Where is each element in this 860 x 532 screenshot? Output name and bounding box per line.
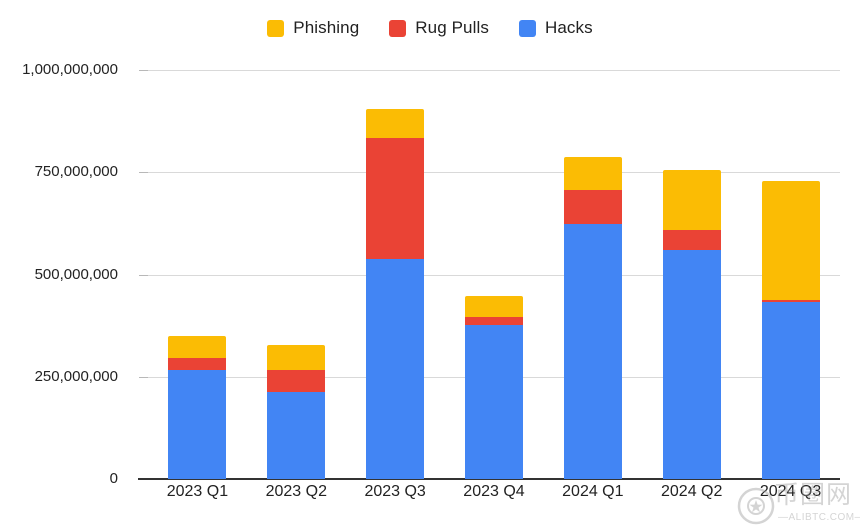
legend-item-hacks[interactable]: Hacks	[519, 18, 593, 38]
legend-label: Hacks	[545, 18, 593, 38]
y-axis-tick	[139, 275, 148, 276]
bar-group[interactable]	[465, 296, 523, 479]
bar-group[interactable]	[564, 157, 622, 479]
legend-label: Rug Pulls	[415, 18, 489, 38]
bar-segment-phishing[interactable]	[168, 336, 226, 358]
plot-area: 0250,000,000500,000,000750,000,0001,000,…	[148, 70, 840, 479]
bar-segment-rug-pulls[interactable]	[663, 230, 721, 249]
bar-segment-rug-pulls[interactable]	[564, 190, 622, 224]
bar-series-container	[148, 70, 840, 479]
legend-swatch-icon	[267, 20, 284, 37]
bar-segment-hacks[interactable]	[663, 250, 721, 479]
bar-group[interactable]	[168, 336, 226, 479]
bar-segment-hacks[interactable]	[168, 370, 226, 479]
bar-group[interactable]	[663, 170, 721, 479]
bar-segment-hacks[interactable]	[366, 259, 424, 479]
bar-segment-phishing[interactable]	[564, 157, 622, 190]
legend-item-phishing[interactable]: Phishing	[267, 18, 359, 38]
y-axis-tick	[139, 377, 148, 378]
bar-segment-rug-pulls[interactable]	[267, 370, 325, 392]
y-axis-tick-label: 0	[0, 470, 118, 487]
stacked-bar-chart: PhishingRug PullsHacks 0250,000,000500,0…	[0, 0, 860, 532]
y-axis-tick	[139, 70, 148, 71]
legend-item-rug-pulls[interactable]: Rug Pulls	[389, 18, 489, 38]
bar-segment-phishing[interactable]	[762, 181, 820, 300]
bar-segment-rug-pulls[interactable]	[465, 317, 523, 325]
x-axis-tick-label: 2024 Q3	[731, 483, 851, 501]
y-axis-tick-label: 500,000,000	[0, 266, 118, 283]
bar-segment-phishing[interactable]	[267, 345, 325, 370]
bar-segment-rug-pulls[interactable]	[366, 138, 424, 259]
bar-segment-phishing[interactable]	[465, 296, 523, 317]
bar-segment-rug-pulls[interactable]	[168, 358, 226, 370]
bar-segment-phishing[interactable]	[663, 170, 721, 230]
legend-swatch-icon	[389, 20, 406, 37]
legend-label: Phishing	[293, 18, 359, 38]
bar-segment-hacks[interactable]	[762, 302, 820, 479]
bar-group[interactable]	[366, 109, 424, 479]
watermark-url: —ALIBTC.COM—	[778, 512, 860, 523]
bar-segment-hacks[interactable]	[564, 224, 622, 479]
legend-swatch-icon	[519, 20, 536, 37]
y-axis-tick-label: 250,000,000	[0, 368, 118, 385]
bar-group[interactable]	[762, 181, 820, 479]
y-axis-tick-label: 1,000,000,000	[0, 61, 118, 78]
bar-segment-phishing[interactable]	[366, 109, 424, 137]
bar-segment-hacks[interactable]	[267, 392, 325, 479]
y-axis-tick-label: 750,000,000	[0, 163, 118, 180]
bar-group[interactable]	[267, 345, 325, 479]
bar-segment-hacks[interactable]	[465, 325, 523, 479]
y-axis-tick	[139, 172, 148, 173]
chart-legend: PhishingRug PullsHacks	[0, 18, 860, 38]
